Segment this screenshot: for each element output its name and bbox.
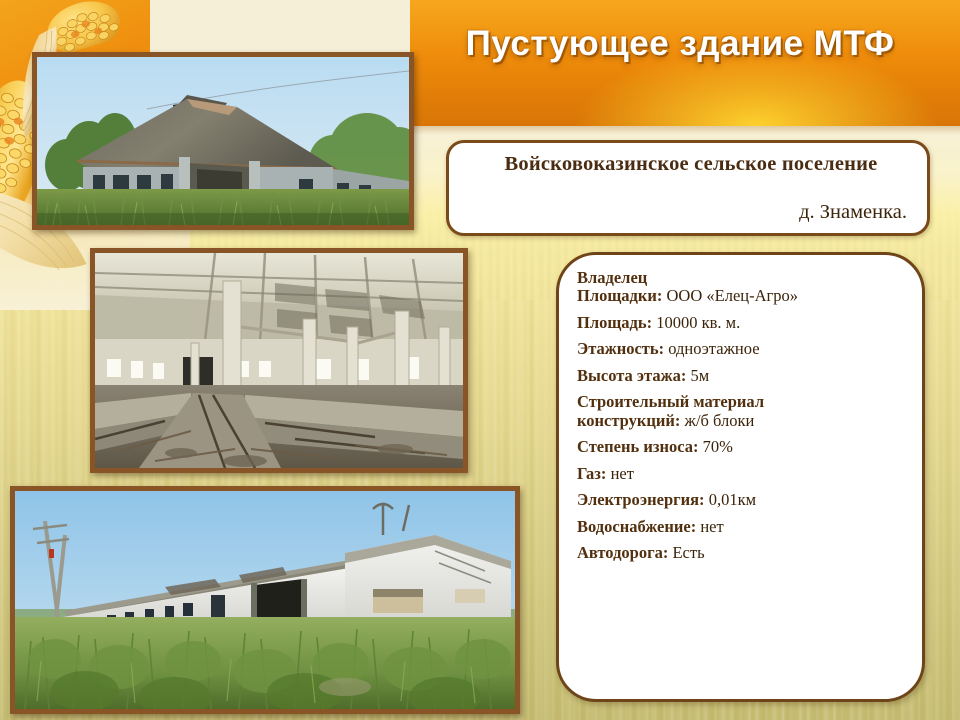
- village-name: д. Знаменка.: [471, 201, 911, 224]
- detail-row-electricity: Электроэнергия: 0,01км: [577, 491, 912, 509]
- detail-label-material-line1: Строительный материал: [577, 393, 912, 411]
- detail-label-electricity: Электроэнергия:: [577, 490, 705, 509]
- detail-label-water: Водоснабжение:: [577, 517, 696, 536]
- photo-2-image: [95, 253, 463, 468]
- detail-label-gas: Газ:: [577, 464, 606, 483]
- detail-value-road: Есть: [672, 543, 704, 562]
- detail-value-owner: ООО «Елец-Агро»: [667, 286, 799, 305]
- photo-barn-interior[interactable]: [90, 248, 468, 473]
- detail-value-floors: одноэтажное: [668, 339, 759, 358]
- detail-label-owner-line1: Владелец: [577, 269, 912, 287]
- detail-label-road: Автодорога:: [577, 543, 668, 562]
- detail-value-area: 10000 кв. м.: [656, 313, 740, 332]
- detail-value-electricity: 0,01км: [709, 490, 756, 509]
- photo-barn-exterior-long[interactable]: [10, 486, 520, 714]
- presentation-slide: Пустующее здание МТФ: [0, 0, 960, 720]
- detail-label-owner: Площадки:: [577, 286, 662, 305]
- detail-row-area: Площадь: 10000 кв. м.: [577, 314, 912, 332]
- slide-title-wrap: Пустующее здание МТФ: [410, 24, 950, 64]
- photo-3-image: [15, 491, 515, 709]
- detail-value-water: нет: [700, 517, 723, 536]
- detail-row-floors: Этажность: одноэтажное: [577, 340, 912, 358]
- detail-row-wear: Степень износа: 70%: [577, 438, 912, 456]
- detail-row-gas: Газ: нет: [577, 465, 912, 483]
- property-details-panel: Владелец Площадки: ООО «Елец-Агро» Площа…: [556, 252, 925, 702]
- settlement-name: Войсковоказинское сельское поселение: [471, 153, 911, 177]
- detail-value-gas: нет: [611, 464, 634, 483]
- photo-farm-building-exterior-front[interactable]: [32, 52, 414, 230]
- photo-1-image: [37, 57, 409, 225]
- detail-row-floor-height: Высота этажа: 5м: [577, 367, 912, 385]
- detail-row-road: Автодорога: Есть: [577, 544, 912, 562]
- page-title: Пустующее здание МТФ: [466, 24, 895, 63]
- settlement-info-box: Войсковоказинское сельское поселение д. …: [446, 140, 930, 236]
- detail-value-wear: 70%: [703, 437, 733, 456]
- title-banner-shadow: [410, 126, 960, 135]
- detail-value-material: ж/б блоки: [685, 411, 755, 430]
- detail-row-material: Строительный материал конструкций: ж/б б…: [577, 393, 912, 430]
- detail-row-owner: Владелец Площадки: ООО «Елец-Агро»: [577, 269, 912, 306]
- detail-label-material: конструкций:: [577, 411, 680, 430]
- detail-label-wear: Степень износа:: [577, 437, 698, 456]
- detail-label-floor-height: Высота этажа:: [577, 366, 686, 385]
- detail-value-floor-height: 5м: [690, 366, 709, 385]
- detail-label-floors: Этажность:: [577, 339, 664, 358]
- detail-row-water: Водоснабжение: нет: [577, 518, 912, 536]
- detail-label-area: Площадь:: [577, 313, 652, 332]
